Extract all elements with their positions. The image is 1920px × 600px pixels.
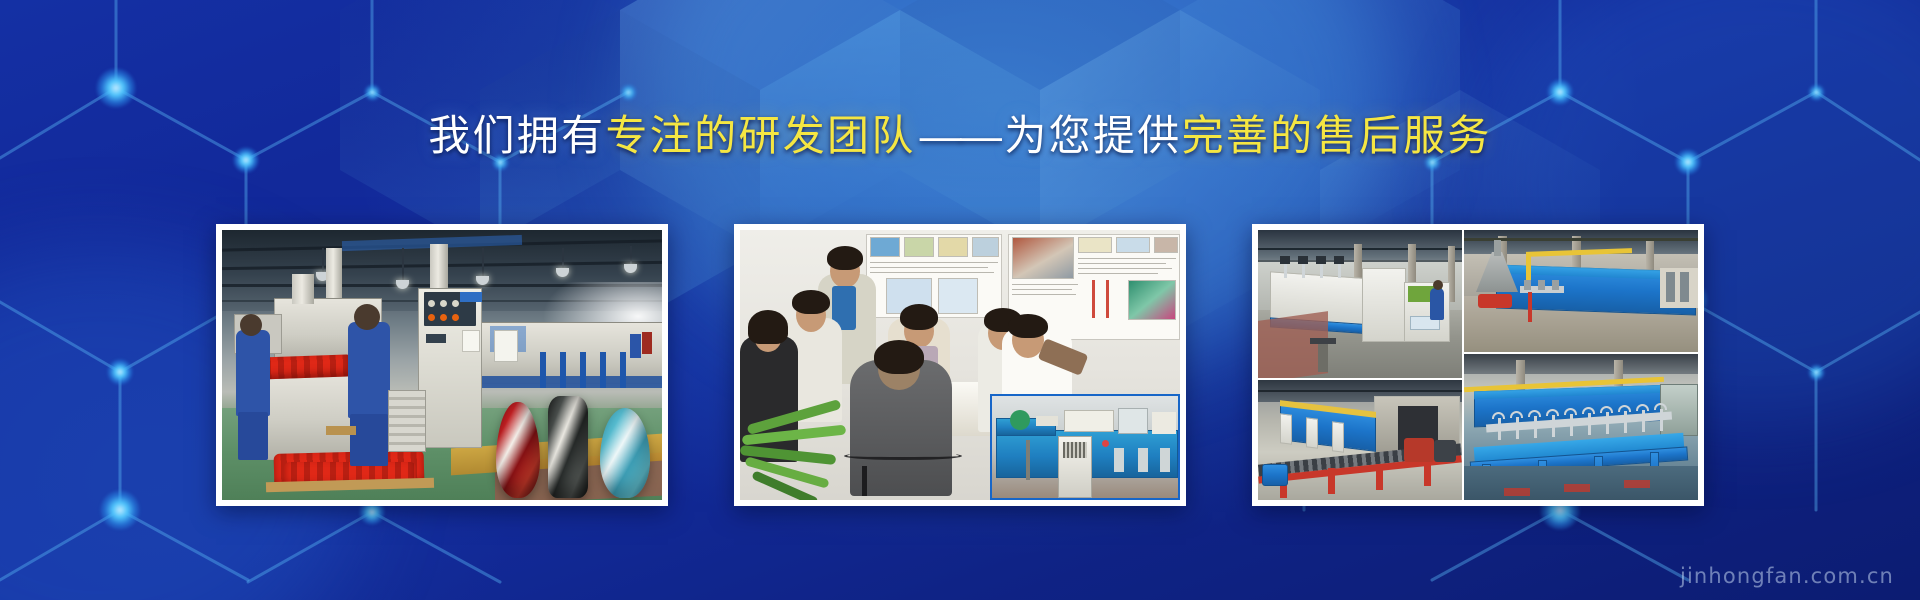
headline-segment-5: 完善的售后服务	[1182, 112, 1492, 159]
photo-team-meeting	[740, 230, 1180, 500]
headline-segment-1: 我们拥有	[428, 112, 605, 159]
photo-equipment-collage	[1258, 230, 1698, 500]
banner-headline: 我们拥有专注的研发团队——为您提供完善的售后服务	[0, 110, 1920, 162]
collage-cell-conveyor	[1258, 380, 1462, 500]
photo-factory-line	[222, 230, 662, 500]
photo-frame-equipment-collage[interactable]	[1252, 224, 1704, 506]
collage-cell-annealing-line	[1258, 230, 1462, 378]
photo-frame-team-meeting[interactable]	[734, 224, 1186, 506]
photo-gallery	[0, 224, 1920, 506]
promo-banner: 我们拥有专注的研发团队——为您提供完善的售后服务	[0, 0, 1920, 600]
headline-segment-dash: ——	[916, 112, 1005, 159]
collage-cell-hanger-line	[1464, 354, 1698, 500]
headline-segment-4: 为您提供	[1004, 112, 1181, 159]
collage-cell-tunnel-kiln	[1464, 230, 1698, 352]
headline-segment-2: 专注的研发团队	[606, 112, 916, 159]
site-watermark: jinhongfan.com.cn	[1680, 564, 1894, 588]
photo-frame-factory-line[interactable]	[216, 224, 668, 506]
